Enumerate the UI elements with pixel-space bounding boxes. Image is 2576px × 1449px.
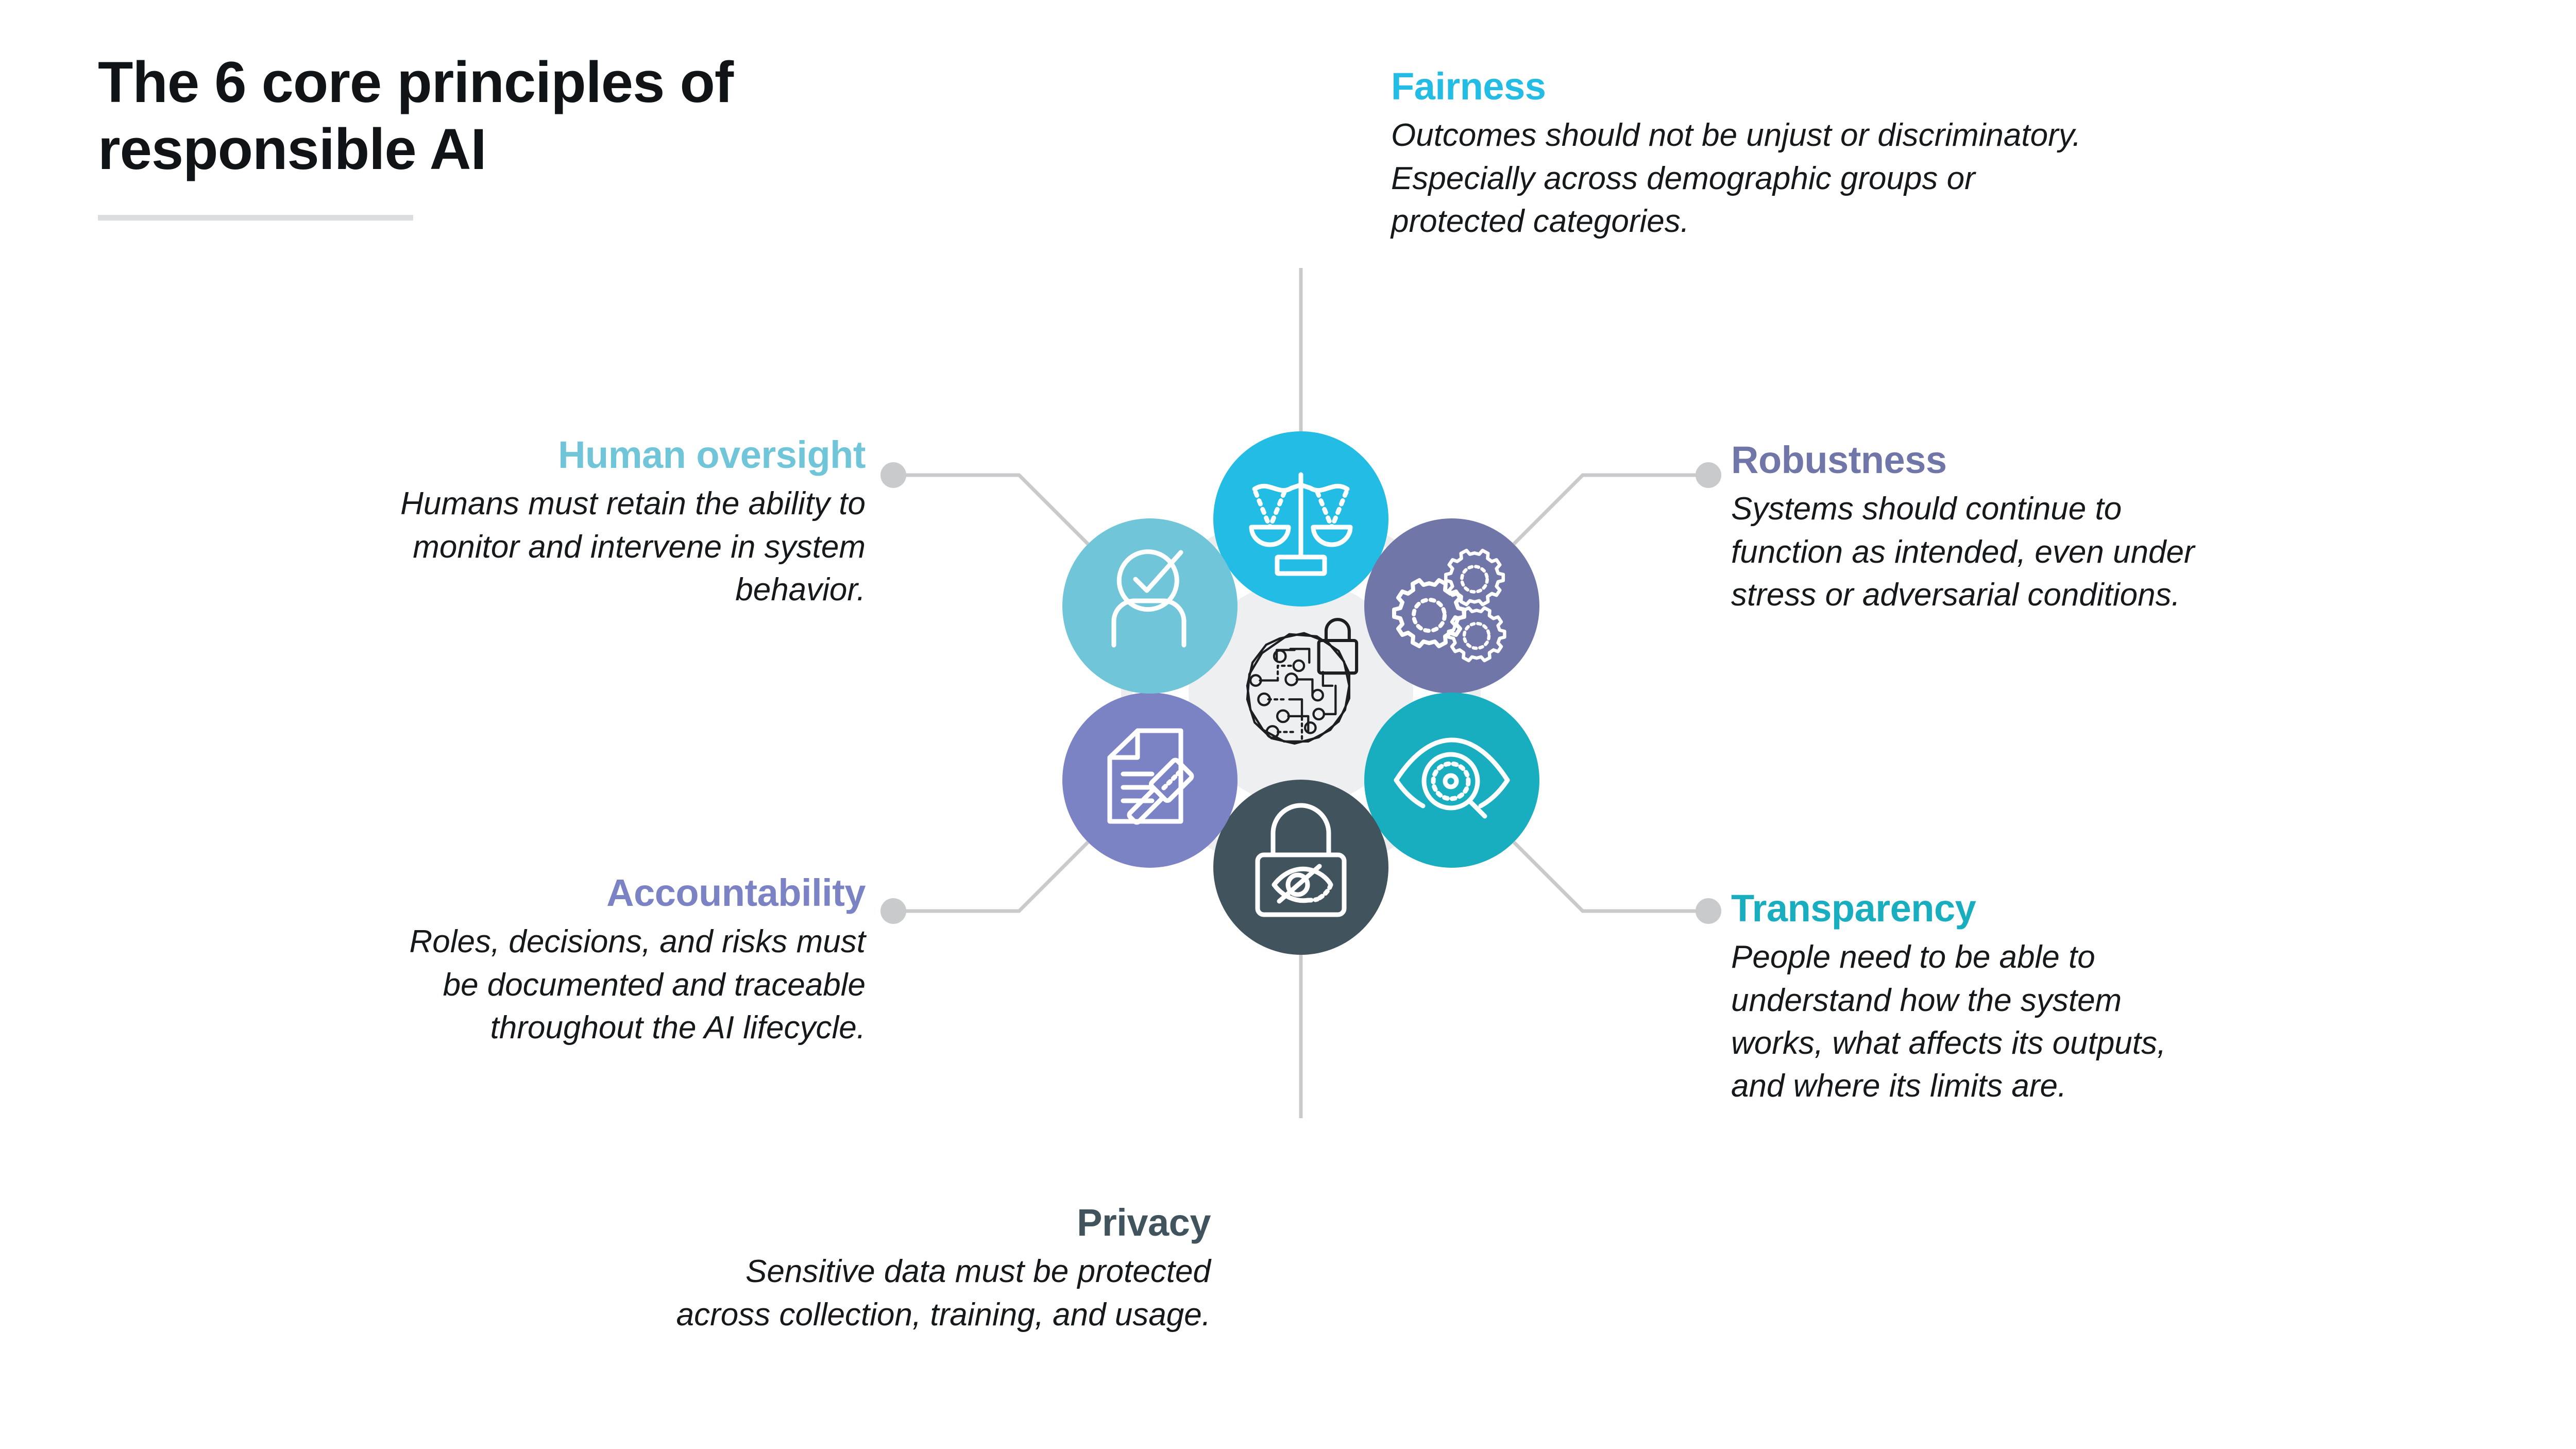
hub-node-robustness[interactable] [1364, 518, 1539, 694]
principle-title-privacy: Privacy [422, 1203, 1211, 1242]
principle-description-privacy: Sensitive data must be protected across … [422, 1250, 1211, 1336]
principle-title-fairness: Fairness [1391, 67, 2463, 106]
leader-line-fairness [1301, 268, 1372, 431]
leader-line-transparency [1514, 842, 1705, 911]
principle-description-robustness: Systems should continue to function as i… [1731, 487, 2468, 616]
leader-dot-transparency [1696, 898, 1721, 924]
principle-block-robustness: Robustness Systems should continue to fu… [1731, 441, 2468, 616]
principle-title-accountability: Accountability [196, 873, 866, 912]
hub-node-human-oversight[interactable] [1062, 518, 1238, 694]
leader-line-accountability [896, 842, 1088, 911]
leader-dot-accountability [880, 898, 906, 924]
principle-block-accountability: Accountability Roles, decisions, and ris… [196, 873, 866, 1049]
principle-description-fairness: Outcomes should not be unjust or discrim… [1391, 114, 2463, 242]
page-title: The 6 core principles of responsible AI [98, 49, 1128, 183]
hub-node-fairness[interactable] [1213, 431, 1388, 606]
principle-block-transparency: Transparency People need to be able to u… [1731, 889, 2463, 1107]
principle-title-human-oversight: Human oversight [155, 435, 866, 474]
principle-block-fairness: Fairness Outcomes should not be unjust o… [1391, 67, 2463, 243]
principle-block-human-oversight: Human oversight Humans must retain the a… [155, 435, 866, 611]
principle-title-robustness: Robustness [1731, 441, 2468, 479]
title-block: The 6 core principles of responsible AI [98, 49, 1128, 221]
principle-description-accountability: Roles, decisions, and risks must be docu… [196, 920, 866, 1049]
title-underline-rule [98, 215, 413, 221]
leader-line-robustness [1514, 475, 1705, 544]
hub-node-accountability[interactable] [1062, 693, 1238, 868]
hub-node-transparency[interactable] [1364, 693, 1539, 868]
leader-dot-human-oversight [880, 462, 906, 488]
leader-dot-robustness [1696, 462, 1721, 488]
leader-line-human-oversight [896, 475, 1088, 544]
principle-description-human-oversight: Humans must retain the ability to monito… [155, 482, 866, 611]
infographic-canvas: The 6 core principles of responsible AI [0, 0, 2576, 1449]
principles-hub-diagram [876, 268, 1726, 1118]
principle-title-transparency: Transparency [1731, 889, 2463, 928]
leader-line-privacy [1226, 955, 1301, 1118]
principle-block-privacy: Privacy Sensitive data must be protected… [422, 1203, 1211, 1336]
hub-node-privacy[interactable] [1213, 780, 1388, 955]
principle-description-transparency: People need to be able to understand how… [1731, 936, 2463, 1107]
